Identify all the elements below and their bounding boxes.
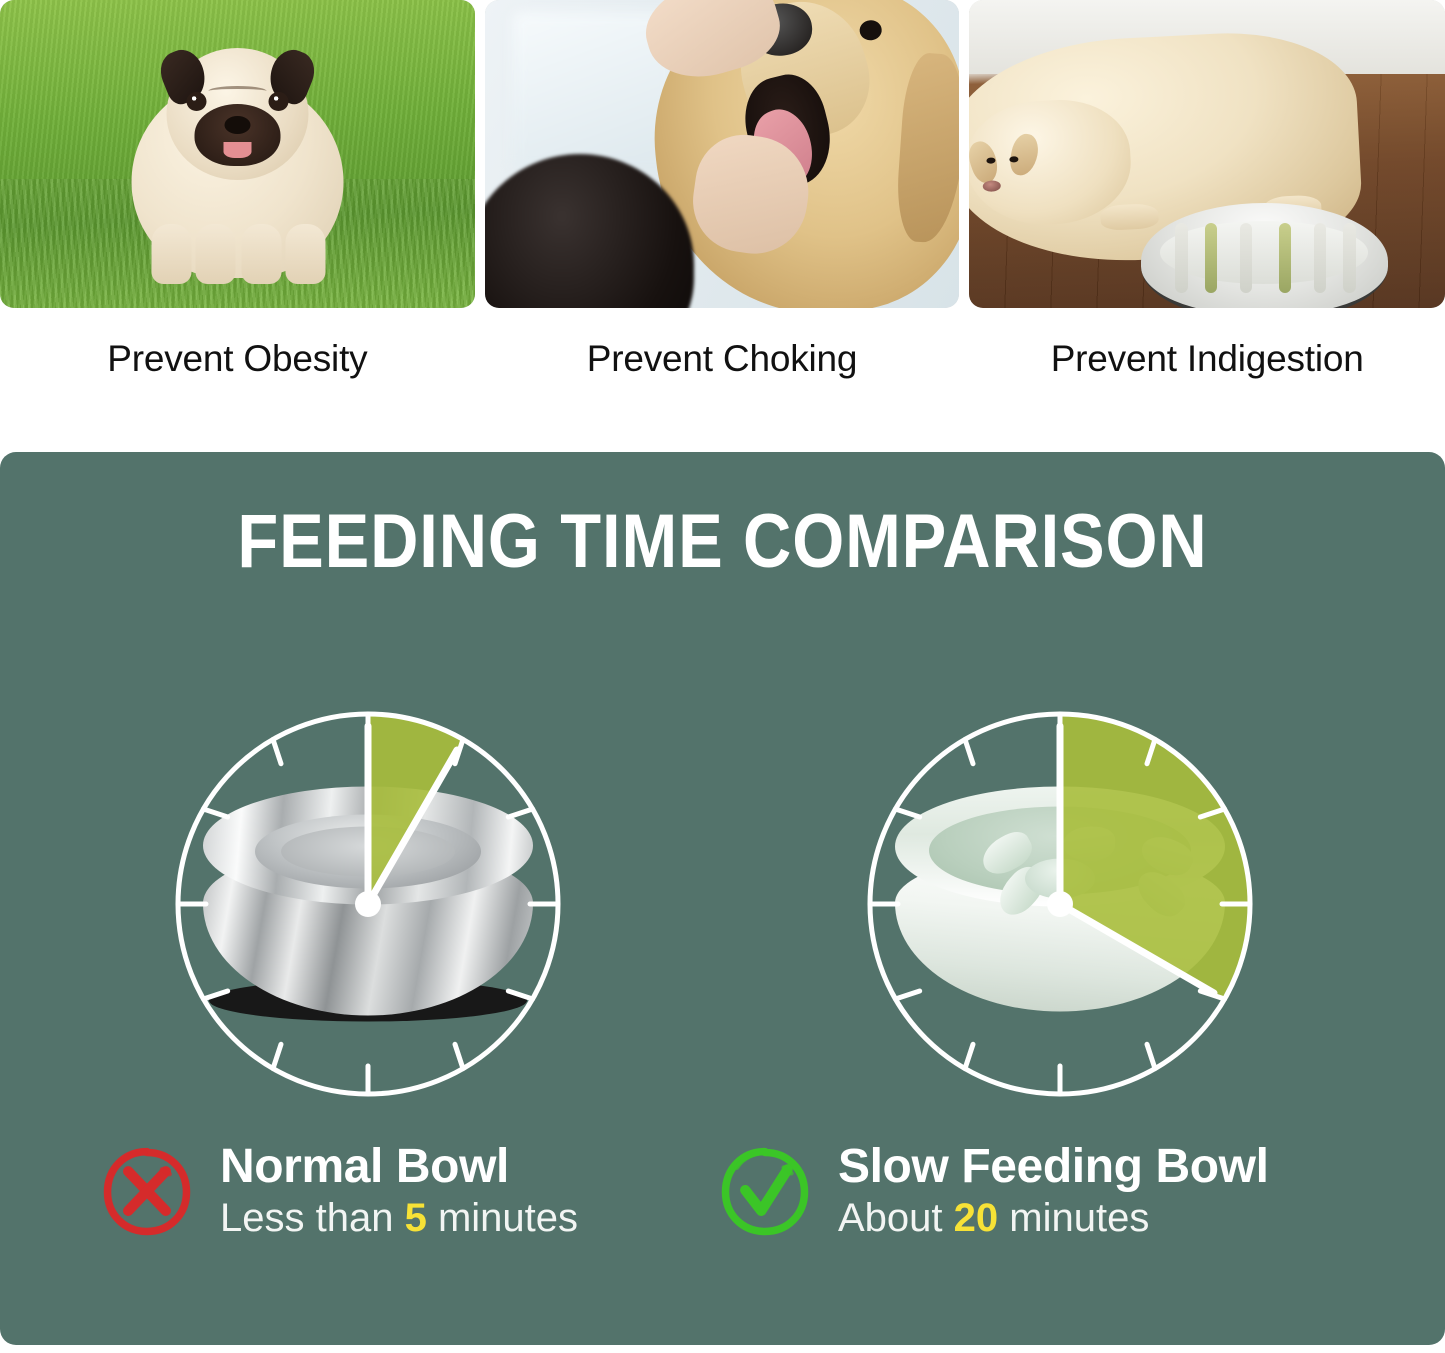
clock-face-slow: [840, 674, 1280, 1134]
photo-lab-with-bowl: [969, 0, 1445, 308]
page-title: FEEDING TIME COMPARISON: [87, 498, 1359, 585]
benefit-card-obesity: Prevent Obesity: [0, 0, 475, 400]
clock-face-normal: [148, 674, 588, 1134]
clock-center-pin: [1047, 891, 1073, 917]
result-normal-bowl: Normal Bowl Less than 5 minutes: [100, 1142, 578, 1242]
benefit-label-indigestion: Prevent Indigestion: [1051, 338, 1364, 380]
clock-slow-feeding-bowl: [840, 674, 1280, 1134]
results-group: Normal Bowl Less than 5 minutes Slow Fee…: [0, 1142, 1445, 1292]
result-sub-suffix-slow: minutes: [998, 1196, 1149, 1240]
feeding-time-comparison-panel: FEEDING TIME COMPARISON: [0, 452, 1445, 1345]
clock-comparison-group: [0, 674, 1445, 1144]
benefit-label-choking: Prevent Choking: [587, 338, 858, 380]
infographic-page: Prevent Obesity: [0, 0, 1445, 1353]
benefit-label-obesity: Prevent Obesity: [107, 338, 367, 380]
photo-pug-on-grass: [0, 0, 475, 308]
photo-dog-mouth-check: [485, 0, 960, 308]
result-sub-normal: Less than 5 minutes: [220, 1195, 578, 1242]
benefits-strip: Prevent Obesity: [0, 0, 1445, 400]
clock-normal-bowl: [148, 674, 588, 1134]
result-sub-prefix-slow: About: [838, 1196, 954, 1240]
result-title-normal: Normal Bowl: [220, 1142, 578, 1193]
result-sub-suffix-normal: minutes: [427, 1196, 578, 1240]
benefit-card-indigestion: Prevent Indigestion: [969, 0, 1445, 400]
result-value-normal: 5: [405, 1196, 427, 1240]
result-sub-prefix-normal: Less than: [220, 1196, 405, 1240]
circled-check-icon: [718, 1145, 812, 1239]
result-value-slow: 20: [954, 1196, 999, 1240]
benefit-card-choking: Prevent Choking: [485, 0, 960, 400]
clock-center-pin: [355, 891, 381, 917]
result-sub-slow: About 20 minutes: [838, 1195, 1269, 1242]
circled-x-icon: [100, 1145, 194, 1239]
result-slow-feeding-bowl: Slow Feeding Bowl About 20 minutes: [718, 1142, 1269, 1242]
result-title-slow: Slow Feeding Bowl: [838, 1142, 1269, 1193]
